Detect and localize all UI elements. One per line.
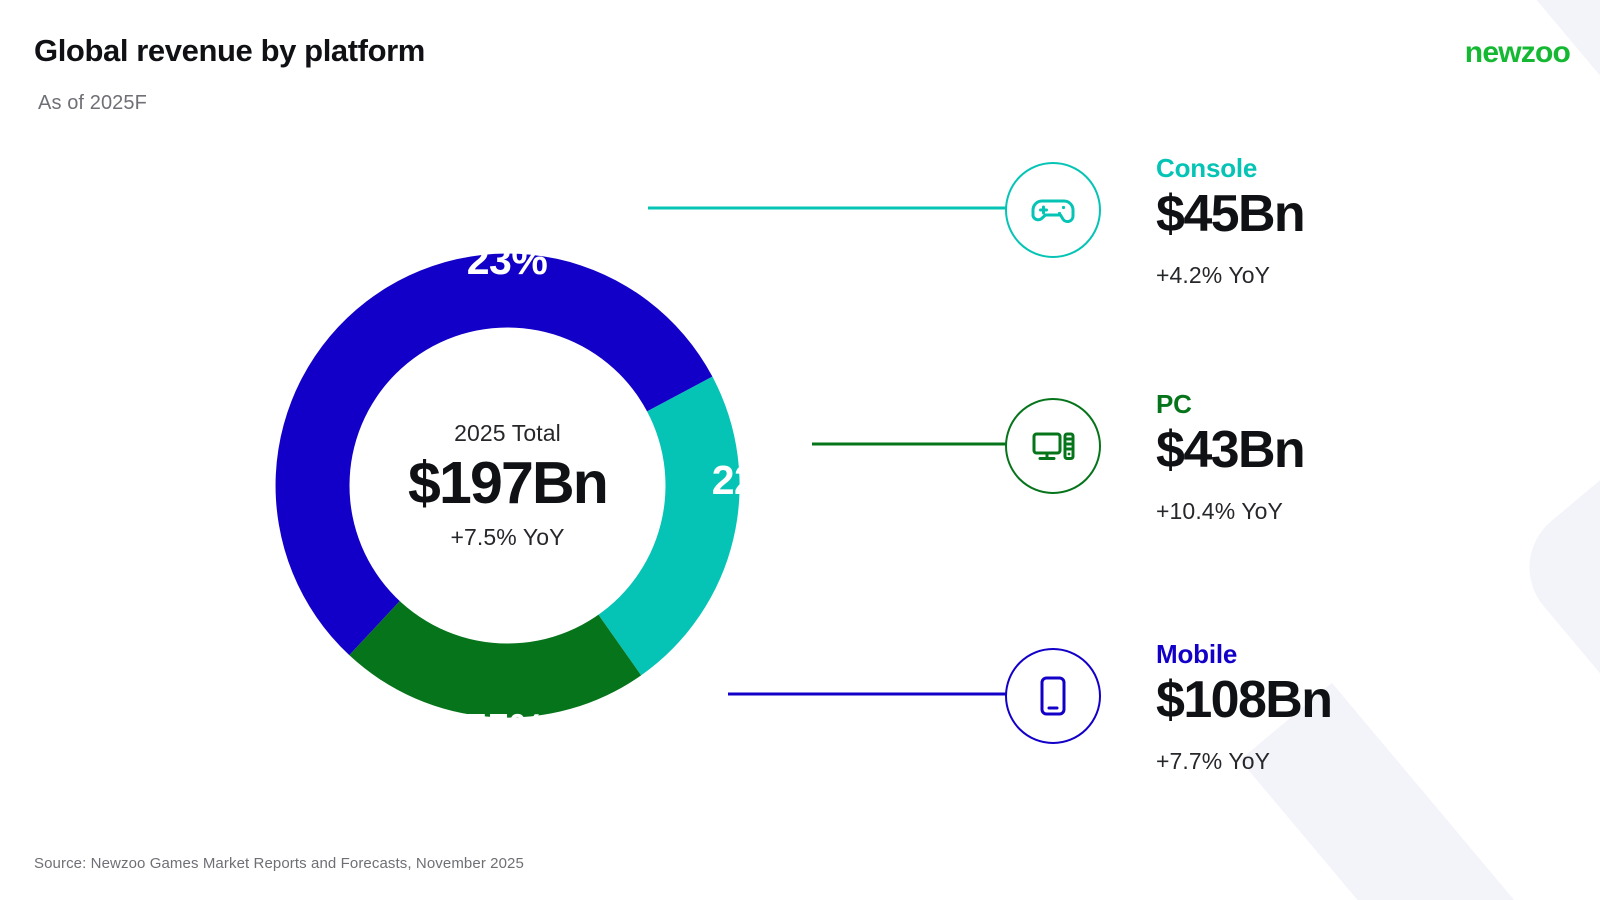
legend-value-pc: $43Bn (1156, 421, 1304, 479)
desktop-computer-icon (1005, 398, 1101, 494)
page-title: Global revenue by platform (34, 33, 425, 69)
page-subtitle: As of 2025F (38, 92, 147, 115)
legend-value-console: $45Bn (1156, 185, 1304, 243)
watermark-stripe (1352, 0, 1600, 900)
newzoo-logo: newzoo (1465, 36, 1570, 70)
legend-text-mobile: Mobile $108Bn +7.7% YoY (1156, 638, 1331, 775)
legend-text-console: Console $45Bn +4.2% YoY (1156, 152, 1304, 289)
legend-platform-pc: PC (1156, 390, 1304, 420)
legend-text-pc: PC $43Bn +10.4% YoY (1156, 388, 1304, 525)
watermark-stripe (1505, 393, 1600, 900)
slice-label-pc: 22% (712, 457, 793, 503)
legend-platform-mobile: Mobile (1156, 640, 1331, 670)
legend-item-mobile[interactable]: Mobile $108Bn +7.7% YoY (1005, 638, 1331, 775)
legend-item-pc[interactable]: PC $43Bn +10.4% YoY (1005, 388, 1304, 525)
source-note: Source: Newzoo Games Market Reports and … (34, 855, 524, 872)
smartphone-icon (1005, 648, 1101, 744)
legend-value-mobile: $108Bn (1156, 671, 1331, 729)
donut-hole (350, 328, 666, 644)
slice-label-console: 23% (467, 237, 548, 283)
donut-chart: 23% 22% 55% (185, 163, 830, 808)
legend-platform-console: Console (1156, 154, 1304, 184)
gamepad-icon (1005, 162, 1101, 258)
donut-chart-svg: 23% 22% 55% (185, 163, 830, 808)
legend-item-console[interactable]: Console $45Bn +4.2% YoY (1005, 152, 1304, 289)
legend-yoy-console: +4.2% YoY (1156, 262, 1304, 289)
legend-yoy-pc: +10.4% YoY (1156, 498, 1304, 525)
slice-label-mobile: 55% (465, 705, 546, 751)
legend-yoy-mobile: +7.7% YoY (1156, 748, 1331, 775)
